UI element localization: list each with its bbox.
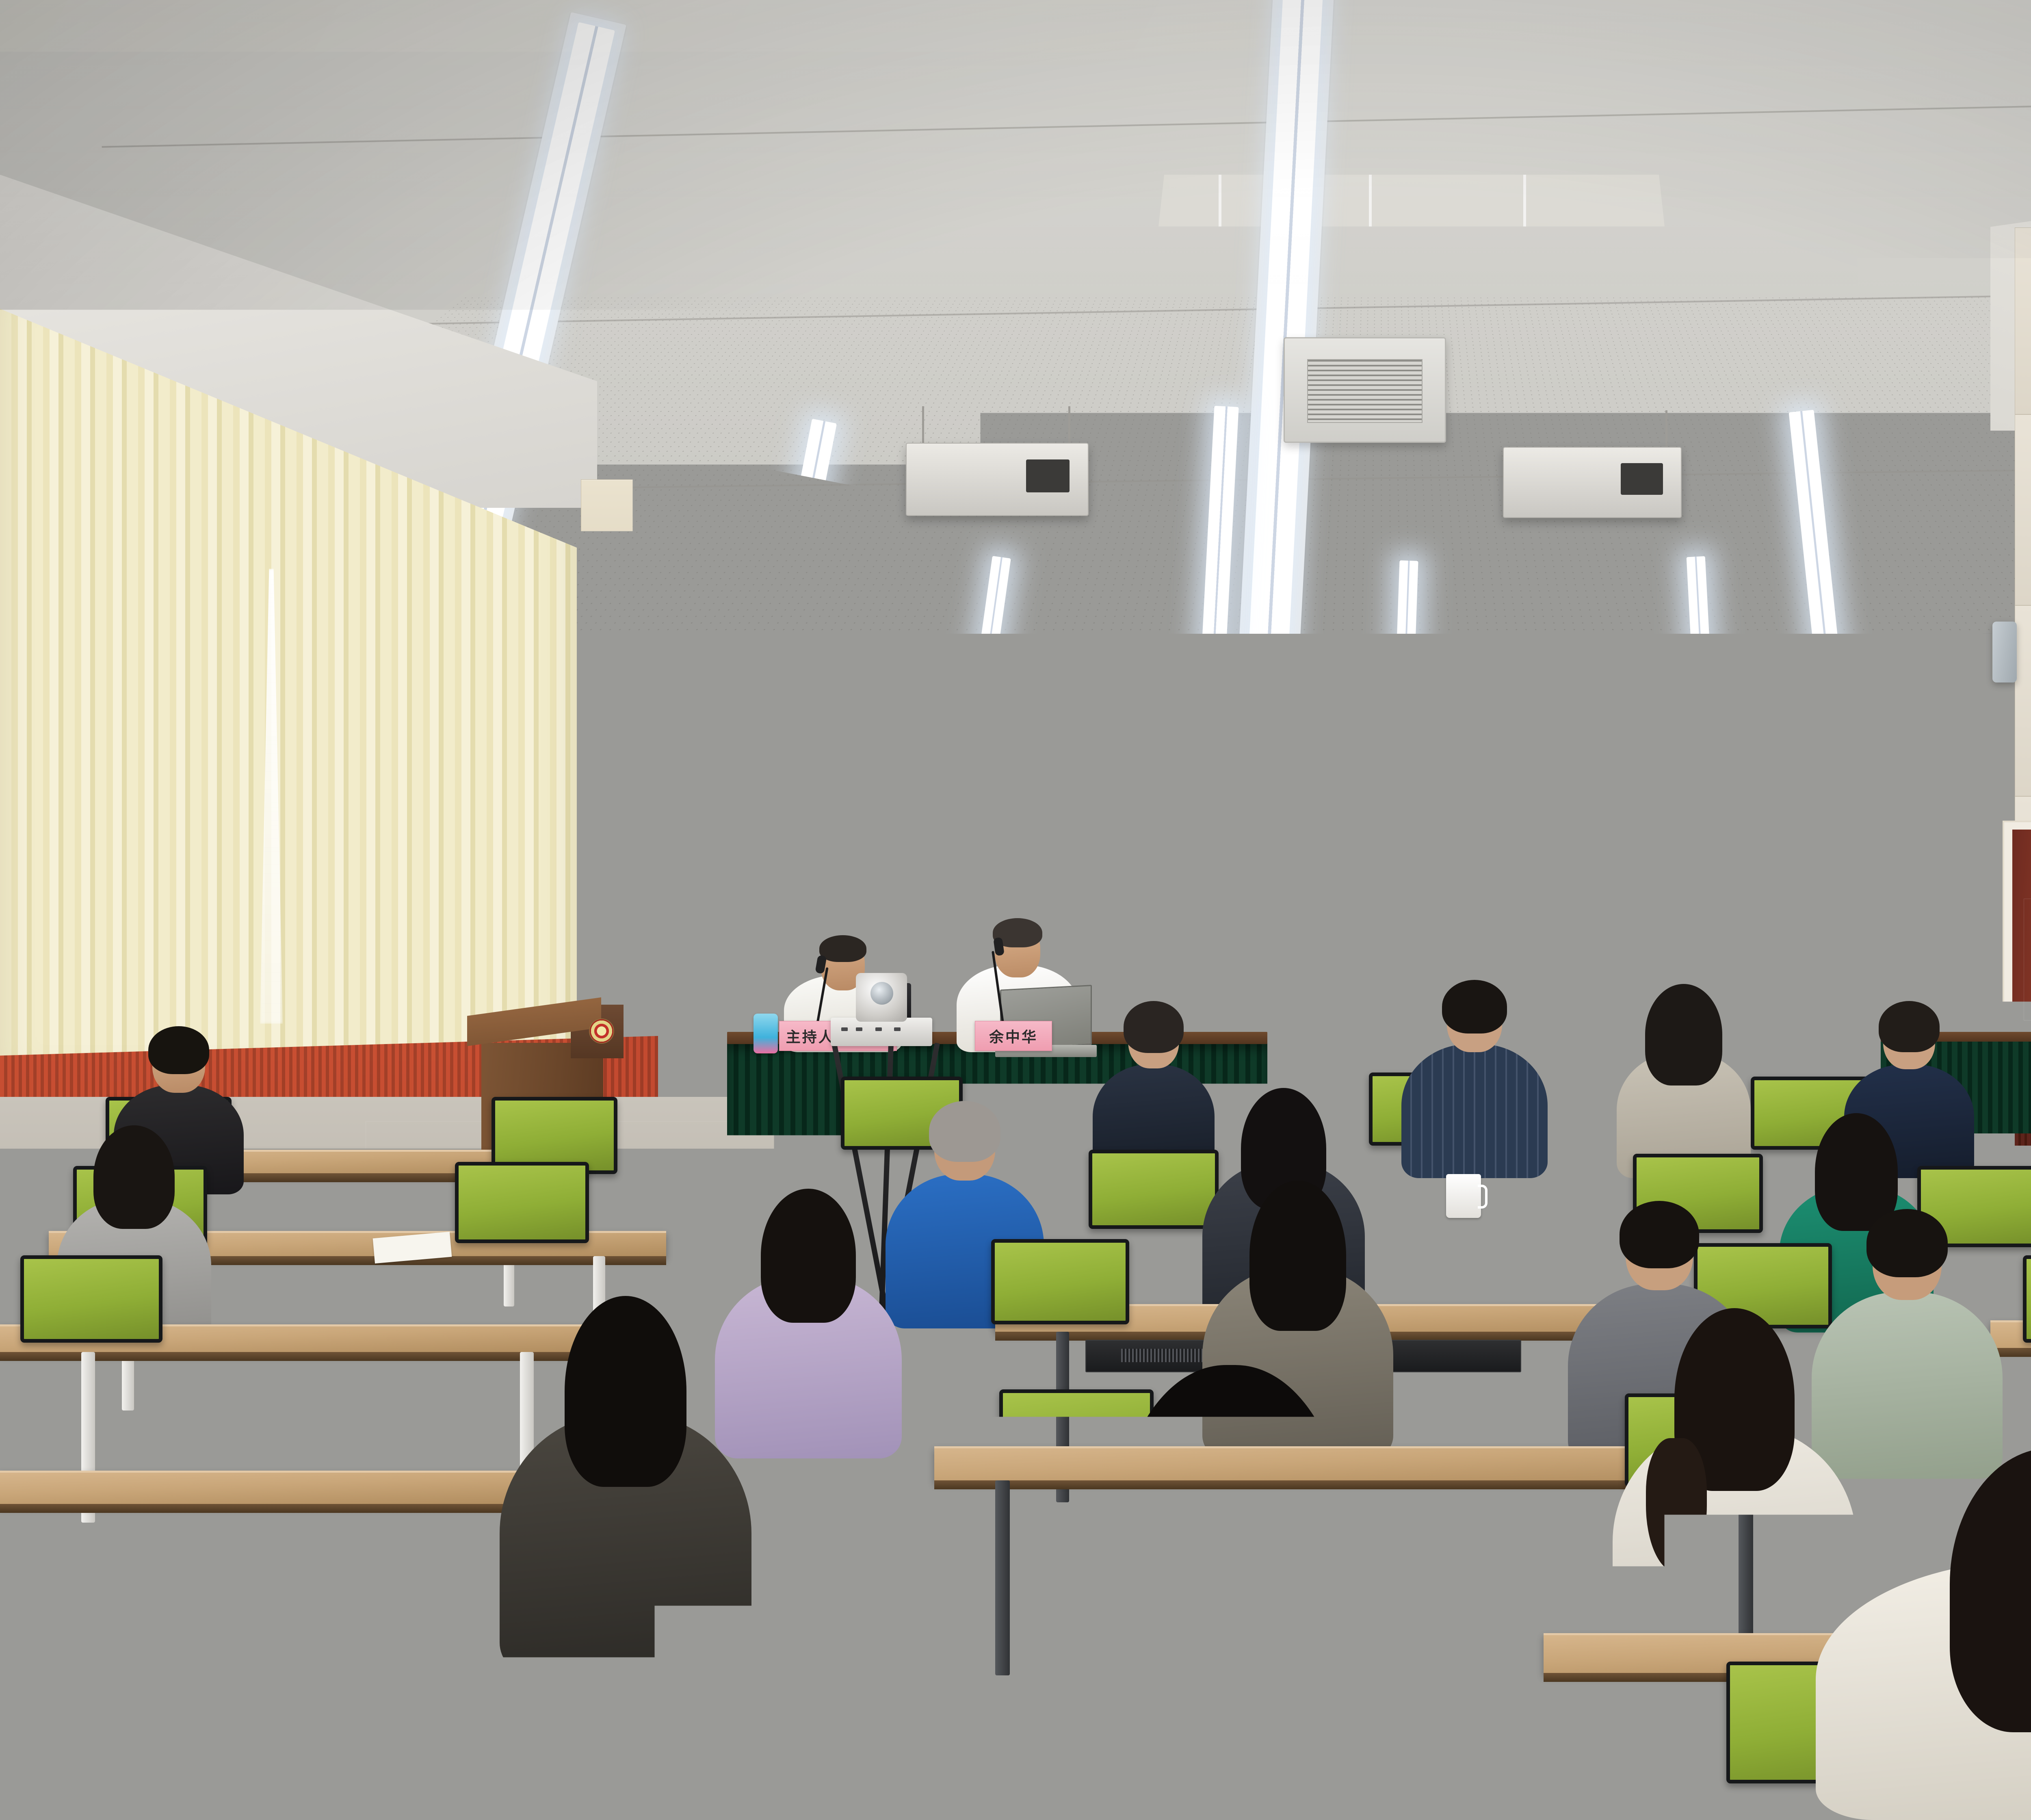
slide-title: 中国工会百年历程几大理论 bbox=[1106, 806, 1678, 849]
chair[interactable] bbox=[991, 1239, 1129, 1324]
slide-toolbar-code: 4465-4457 bbox=[1583, 697, 1622, 706]
ptz-camera-base bbox=[831, 1018, 932, 1046]
placard-speaker: 余中华 bbox=[975, 1021, 1052, 1051]
chair[interactable] bbox=[467, 1702, 658, 1820]
chair[interactable] bbox=[20, 1255, 162, 1343]
led-banner: “中国工人大思政课·江门篇”宣讲活动 bbox=[914, 609, 1881, 691]
camera-lens-icon bbox=[870, 982, 893, 1005]
ac-grille bbox=[1307, 359, 1423, 423]
speaker-icon[interactable]: 🔊 bbox=[1643, 698, 1652, 705]
wall-speaker-small bbox=[1992, 622, 2017, 682]
location-pin-icon: ● bbox=[1155, 695, 1162, 708]
led-scanline-overlay bbox=[915, 611, 1879, 689]
attendee-foreground bbox=[1816, 1462, 2031, 1820]
attendee bbox=[500, 1308, 751, 1674]
ptz-camera-head bbox=[856, 973, 907, 1022]
curtain-light-gap bbox=[260, 569, 283, 1024]
chair[interactable] bbox=[455, 1162, 589, 1243]
water-bottle bbox=[754, 1014, 778, 1053]
slide-toolbar[interactable]: 4465-4457 🎤 🔊 👤 bbox=[1578, 694, 1670, 708]
ponytail bbox=[1646, 1438, 1707, 1572]
microphone-icon[interactable]: 🎤 bbox=[1629, 698, 1639, 705]
coffee-mug bbox=[1446, 1174, 1481, 1218]
person-icon[interactable]: 👤 bbox=[1656, 698, 1665, 705]
lecture-hall-photo: “中国工人大思政课·江门篇”宣讲活动 ● 4465-4457 🎤 🔊 👤 中国工… bbox=[0, 0, 2031, 1820]
chair[interactable] bbox=[2023, 1255, 2031, 1343]
desk-row-d-left bbox=[0, 1471, 548, 1505]
ac-cassette-unit bbox=[1284, 337, 1446, 443]
union-emblem-icon bbox=[589, 1018, 614, 1044]
toolbar-divider bbox=[1625, 698, 1626, 705]
attendee bbox=[1617, 991, 1751, 1178]
attendee-foreground bbox=[987, 1381, 1475, 1820]
host-hair bbox=[819, 935, 866, 962]
attendee bbox=[1401, 987, 1548, 1178]
slide-date: 2025年12月 bbox=[1106, 930, 1678, 955]
ptz-camera bbox=[831, 969, 932, 1046]
placard-side: 蔡汉文 bbox=[1353, 1052, 1407, 1075]
chair[interactable] bbox=[1089, 1150, 1219, 1229]
attendee-foreground bbox=[37, 1568, 370, 1820]
